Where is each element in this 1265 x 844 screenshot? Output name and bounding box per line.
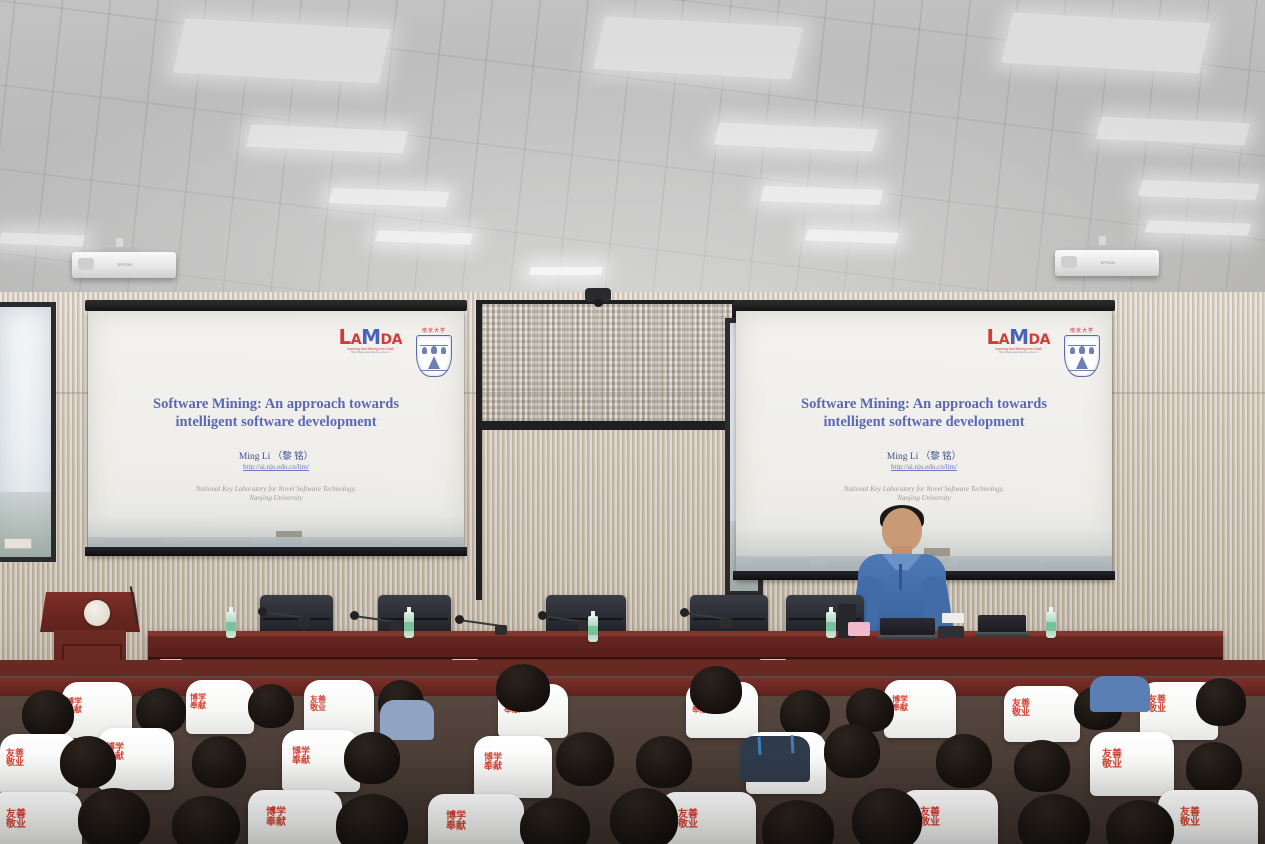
seat-cover-text: 博学 奉献 — [190, 694, 206, 710]
water-bottle — [588, 616, 598, 642]
lamda-letter-l: L — [987, 325, 999, 349]
shield-bar — [420, 370, 449, 371]
audience-head — [172, 796, 240, 844]
seat-cover: 友善 敬业 — [1090, 732, 1174, 796]
bottle-label — [404, 622, 414, 630]
laptop-base — [975, 632, 1029, 637]
audience-head — [1186, 742, 1242, 794]
shield-figure — [1070, 347, 1075, 354]
nju-crest: 南京大学 — [1064, 327, 1100, 377]
table-microphone — [258, 607, 310, 629]
slide-author-right: Ming Li （黎 铭） — [736, 448, 1112, 462]
lamda-letters-da: DA — [381, 332, 402, 348]
projector-brand-label: EPSON — [1101, 260, 1115, 265]
audience-head — [22, 690, 74, 738]
slide-author-left: Ming Li （黎 铭） — [88, 448, 464, 462]
slide-title-line-2: intelligent software development — [758, 413, 1090, 431]
audience-head — [496, 664, 550, 712]
audience-head — [1018, 794, 1090, 844]
lamda-site: http://www.lamda.nju.edu.cn — [987, 351, 1050, 354]
table-edge — [148, 631, 1223, 636]
slide-logo-row: LAMDA Learning And Mining from DatA http… — [339, 327, 452, 377]
seat-cover-text: 友善 敬业 — [6, 810, 26, 830]
table-rail — [148, 657, 1223, 659]
seat-cover-text: 友善 敬业 — [920, 808, 940, 828]
cover-char-b: 敬业 — [678, 819, 698, 830]
slide-affiliation-right: National Key Laboratory for Novel Softwa… — [736, 485, 1112, 504]
shield-mountain-icon — [1076, 356, 1088, 369]
audience-head — [520, 798, 590, 844]
cover-char-b: 敬业 — [310, 703, 326, 712]
slide-title-line-2: intelligent software development — [110, 413, 442, 431]
seat-cover: 友善 敬业 — [0, 792, 82, 844]
seat-cover-text: 友善 敬业 — [6, 750, 24, 768]
audience-head — [344, 732, 400, 784]
slide-logo-row: LAMDA Learning And Mining from DatA http… — [987, 327, 1100, 377]
seat-cover-text: 博学 奉献 — [292, 748, 310, 766]
slide-title-line-1: Software Mining: An approach towards — [758, 395, 1090, 413]
acoustic-panel-side-left — [476, 300, 482, 600]
seat-cover-text: 友善 敬业 — [310, 696, 326, 712]
shield-figure — [422, 347, 427, 354]
seat-cover: 博学 奉献 — [428, 794, 524, 844]
bottle-label — [1046, 622, 1056, 630]
audience-head — [192, 736, 246, 788]
audience-lanyard — [758, 735, 795, 755]
nju-crest-chinese-name: 南京大学 — [416, 327, 452, 334]
shield-bar — [1068, 370, 1097, 371]
seat-cover: 友善 敬业 — [1004, 686, 1080, 742]
audience-head — [690, 666, 742, 714]
slide-url-left: http://ai.nju.edu.cn/lim/ — [88, 463, 464, 471]
cover-char-b: 敬业 — [1012, 708, 1030, 718]
audience-head — [1196, 678, 1246, 726]
presenter-laptop[interactable] — [978, 615, 1026, 637]
shield-figure — [431, 346, 437, 354]
lamda-logo: LAMDA Learning And Mining from DatA http… — [339, 327, 402, 355]
water-bottle — [1046, 612, 1056, 638]
lecture-hall-photo: EPSON EPSON L — [0, 0, 1265, 844]
mic-head-icon — [455, 615, 464, 624]
acoustic-panel-frame-lower — [476, 425, 738, 430]
acoustic-panel — [476, 300, 738, 425]
shield-figure — [1089, 347, 1094, 354]
speaker-placket — [899, 564, 902, 590]
flower-vase-pink — [848, 622, 870, 636]
nju-crest: 南京大学 — [416, 327, 452, 377]
laptop-lid — [880, 618, 935, 635]
bottle-label — [826, 622, 836, 630]
cover-char-b: 敬业 — [1102, 759, 1122, 770]
seat-cover-text: 友善 敬业 — [678, 810, 698, 830]
seat-cover-text: 友善 敬业 — [1012, 700, 1030, 718]
affiliation-line-1: National Key Laboratory for Novel Softwa… — [88, 485, 464, 494]
projector-left: EPSON — [72, 238, 176, 282]
shield-figure — [1079, 346, 1085, 354]
seat-cover-text: 博学 奉献 — [446, 812, 466, 832]
mic-head-icon — [350, 611, 359, 620]
table-microphone — [455, 615, 507, 637]
audience-head — [636, 736, 692, 788]
table-microphone — [680, 608, 732, 630]
presenter-laptop[interactable] — [880, 618, 935, 640]
lamda-site: http://www.lamda.nju.edu.cn — [339, 351, 402, 354]
lectern-emblem — [84, 600, 110, 626]
affiliation-line-2: Nanjing University — [736, 494, 1112, 503]
audience-head — [762, 800, 834, 844]
audience-head — [610, 788, 678, 844]
table-microphone — [538, 611, 590, 633]
slide-title-line-1: Software Mining: An approach towards — [110, 395, 442, 413]
mic-base — [298, 617, 310, 627]
audience-head — [1014, 740, 1070, 792]
mic-head-icon — [680, 608, 689, 617]
ceiling-camera-icon — [585, 288, 611, 302]
shield-figure — [441, 347, 446, 354]
cover-char-b: 奉献 — [292, 756, 310, 766]
cover-char-b: 奉献 — [266, 817, 286, 828]
projector-lens-icon — [1061, 256, 1077, 268]
audience-head — [336, 794, 408, 844]
bottle-label — [588, 626, 598, 634]
seat-cover: 博学 奉献 — [248, 790, 342, 844]
av-control-box — [938, 626, 964, 638]
lamda-letters-da: DA — [1029, 332, 1050, 348]
slide-url-right: http://ai.nju.edu.cn/lim/ — [736, 463, 1112, 471]
audience-head — [780, 690, 830, 738]
laptop-base — [877, 635, 939, 640]
wall-socket-plate — [4, 538, 32, 549]
mic-base — [495, 625, 507, 635]
bottle-label — [226, 622, 236, 630]
water-bottle — [404, 612, 414, 638]
cover-char-b: 敬业 — [1180, 817, 1200, 828]
cover-char-b: 奉献 — [484, 762, 502, 772]
screen-case — [85, 300, 467, 311]
slide-title-right: Software Mining: An approach towards int… — [758, 395, 1090, 431]
lamda-letter-a: A — [351, 332, 361, 348]
screen-weight-bar — [85, 547, 467, 556]
audience-head — [936, 734, 992, 788]
audience-head — [60, 736, 116, 788]
audience-head — [556, 732, 614, 786]
cover-char-b: 奉献 — [190, 701, 206, 710]
audience-shirt — [380, 700, 434, 740]
lamda-logo: LAMDA Learning And Mining from DatA http… — [987, 327, 1050, 355]
nju-crest-chinese-name: 南京大学 — [1064, 327, 1100, 334]
cover-char-b: 敬业 — [6, 819, 26, 830]
audience-head — [248, 684, 294, 728]
shield-mountain-icon — [428, 356, 440, 369]
lamda-letter-m: M — [361, 325, 380, 349]
cover-char-b: 敬业 — [920, 817, 940, 828]
audience-head — [78, 788, 150, 844]
paper-stack — [942, 613, 964, 623]
seat-cover-text: 友善 敬业 — [1180, 808, 1200, 828]
water-bottle — [226, 612, 236, 638]
projector-brand-label: EPSON — [118, 262, 132, 267]
audience-shirt — [1090, 676, 1150, 712]
projector-right: EPSON — [1055, 236, 1159, 280]
seat-cover: 博学 奉献 — [884, 680, 956, 738]
slide-title-left: Software Mining: An approach towards int… — [110, 395, 442, 431]
seat-cover-text: 友善 敬业 — [1102, 750, 1122, 770]
seat-cover: 博学 奉献 — [186, 680, 254, 734]
seat-cover-text: 友善 敬业 — [1148, 696, 1166, 714]
laptop-lid — [978, 615, 1026, 632]
seat-cover-text: 博学 奉献 — [266, 808, 286, 828]
lamda-letter-m: M — [1009, 325, 1028, 349]
mic-base — [390, 621, 402, 631]
projection-screen-left: LAMDA Learning And Mining from DatA http… — [85, 300, 467, 556]
nju-shield-icon — [416, 335, 452, 377]
audience-head — [852, 788, 922, 844]
seat-cover-text: 博学 奉献 — [892, 696, 908, 712]
slide-content-left: LAMDA Learning And Mining from DatA http… — [88, 311, 464, 556]
nju-shield-icon — [1064, 335, 1100, 377]
mic-head-icon — [258, 607, 267, 616]
seat-cover: 友善 敬业 — [304, 680, 374, 736]
seat-cover-text: 博学 奉献 — [484, 754, 502, 772]
mic-head-icon — [538, 611, 547, 620]
mic-base — [720, 618, 732, 628]
window-left — [0, 302, 56, 562]
audience-seating: 博学 奉献 博学 奉献 友善 敬业 博学 奉献 博学 奉献 — [0, 660, 1265, 844]
lamda-letter-l: L — [339, 325, 351, 349]
table-microphone — [350, 611, 402, 633]
audience-head — [824, 724, 880, 778]
screen-case — [733, 300, 1115, 311]
lamda-letter-a: A — [999, 332, 1009, 348]
water-bottle — [826, 612, 836, 638]
cover-char-b: 奉献 — [446, 821, 466, 832]
cover-char-b: 敬业 — [6, 758, 24, 768]
projector-lens-icon — [78, 258, 94, 270]
seat-cover: 博学 奉献 — [474, 736, 552, 798]
affiliation-line-1: National Key Laboratory for Novel Softwa… — [736, 485, 1112, 494]
screen-surface: LAMDA Learning And Mining from DatA http… — [88, 311, 464, 556]
cover-char-b: 敬业 — [1148, 704, 1166, 714]
cover-char-b: 奉献 — [892, 703, 908, 712]
